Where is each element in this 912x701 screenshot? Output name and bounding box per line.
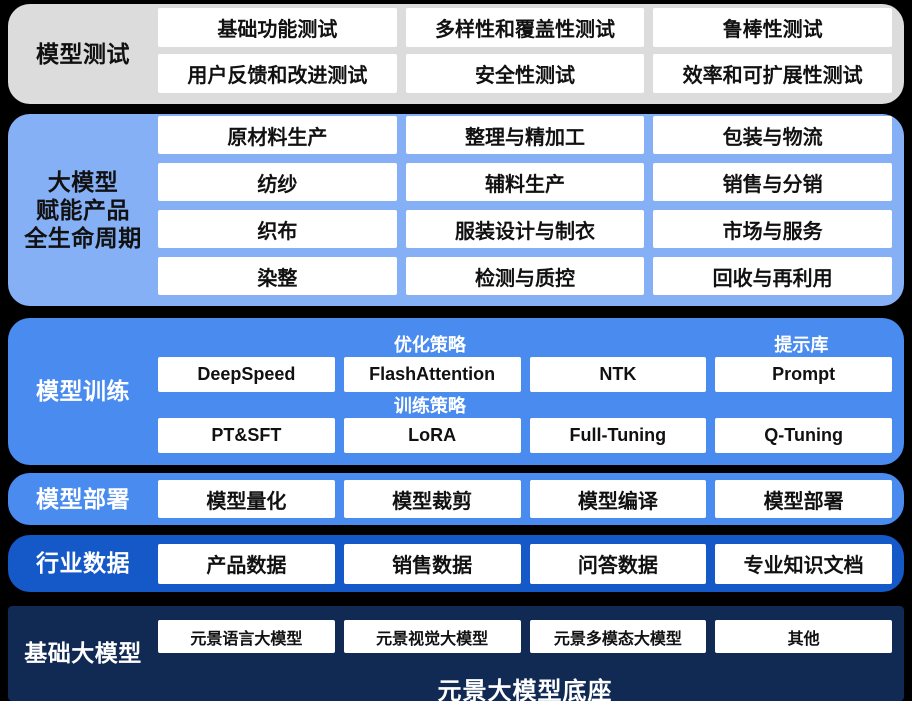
card-row: PT&SFT LoRA Full-Tuning Q-Tuning: [158, 418, 892, 453]
card-row: 模型量化 模型裁剪 模型编译 模型部署: [158, 480, 892, 518]
card-row: 染整 检测与质控 回收与再利用: [158, 257, 892, 295]
group-label-prompt-library: 提示库: [711, 331, 892, 357]
card-item[interactable]: 多样性和覆盖性测试: [406, 8, 645, 47]
card-item[interactable]: 效率和可扩展性测试: [653, 54, 892, 93]
card-item[interactable]: 模型裁剪: [344, 480, 521, 518]
card-item[interactable]: LoRA: [344, 418, 521, 453]
card-item[interactable]: 织布: [158, 210, 397, 248]
card-item[interactable]: NTK: [530, 357, 707, 392]
card-item[interactable]: 服装设计与制衣: [406, 210, 645, 248]
card-item[interactable]: 问答数据: [530, 544, 707, 584]
card-item[interactable]: 回收与再利用: [653, 257, 892, 295]
card-item[interactable]: FlashAttention: [344, 357, 521, 392]
section-model-training: 模型训练 优化策略 提示库 DeepSpeed FlashAttention N…: [8, 318, 904, 465]
card-item[interactable]: 模型部署: [715, 480, 892, 518]
foundation-model-banner: 元景大模型底座: [158, 671, 892, 701]
section-label-product-lifecycle: 大模型 赋能产品 全生命周期: [8, 168, 158, 252]
section-model-testing: 模型测试 基础功能测试 多样性和覆盖性测试 鲁棒性测试 用户反馈和改进测试 安全…: [8, 4, 904, 104]
card-row: 元景语言大模型 元景视觉大模型 元景多模态大模型 其他: [158, 620, 892, 653]
card-item[interactable]: 包装与物流: [653, 116, 892, 154]
card-item[interactable]: 原材料生产: [158, 116, 397, 154]
card-item[interactable]: 销售数据: [344, 544, 521, 584]
section-label-industry-data: 行业数据: [8, 549, 158, 577]
card-item[interactable]: 模型量化: [158, 480, 335, 518]
section-foundation-model: 基础大模型 元景语言大模型 元景视觉大模型 元景多模态大模型 其他 元景大模型底…: [8, 606, 904, 701]
card-item[interactable]: 销售与分销: [653, 163, 892, 201]
card-item[interactable]: 整理与精加工: [406, 116, 645, 154]
card-item[interactable]: 元景语言大模型: [158, 620, 335, 653]
section-body-industry-data: 产品数据 销售数据 问答数据 专业知识文档: [158, 544, 904, 584]
section-industry-data: 行业数据 产品数据 销售数据 问答数据 专业知识文档: [8, 535, 904, 592]
card-item[interactable]: 元景多模态大模型: [530, 620, 707, 653]
card-item[interactable]: 元景视觉大模型: [344, 620, 521, 653]
card-item[interactable]: 基础功能测试: [158, 8, 397, 47]
section-label-model-training: 模型训练: [8, 377, 158, 405]
section-product-lifecycle: 大模型 赋能产品 全生命周期 原材料生产 整理与精加工 包装与物流 纺纱 辅料生…: [8, 114, 904, 306]
section-body-model-training: 优化策略 提示库 DeepSpeed FlashAttention NTK Pr…: [158, 331, 904, 453]
card-item[interactable]: 鲁棒性测试: [653, 8, 892, 47]
section-label-model-testing: 模型测试: [8, 40, 158, 68]
section-label-foundation-model: 基础大模型: [8, 639, 158, 667]
section-model-deployment: 模型部署 模型量化 模型裁剪 模型编译 模型部署: [8, 473, 904, 525]
card-row: 纺纱 辅料生产 销售与分销: [158, 163, 892, 201]
section-body-product-lifecycle: 原材料生产 整理与精加工 包装与物流 纺纱 辅料生产 销售与分销 织布 服装设计…: [158, 116, 904, 304]
section-body-model-testing: 基础功能测试 多样性和覆盖性测试 鲁棒性测试 用户反馈和改进测试 安全性测试 效…: [158, 8, 904, 100]
card-item[interactable]: 用户反馈和改进测试: [158, 54, 397, 93]
card-item[interactable]: 纺纱: [158, 163, 397, 201]
group-header-row: 训练策略: [158, 392, 892, 418]
card-item[interactable]: Prompt: [715, 357, 892, 392]
card-row: 原材料生产 整理与精加工 包装与物流: [158, 116, 892, 154]
section-body-model-deployment: 模型量化 模型裁剪 模型编译 模型部署: [158, 480, 904, 518]
card-item[interactable]: 模型编译: [530, 480, 707, 518]
section-label-model-deployment: 模型部署: [8, 485, 158, 513]
card-row: 产品数据 销售数据 问答数据 专业知识文档: [158, 544, 892, 584]
card-item[interactable]: 辅料生产: [406, 163, 645, 201]
card-item[interactable]: DeepSpeed: [158, 357, 335, 392]
card-row: 织布 服装设计与制衣 市场与服务: [158, 210, 892, 248]
card-item[interactable]: 市场与服务: [653, 210, 892, 248]
group-header-row: 优化策略 提示库: [158, 331, 892, 357]
card-item[interactable]: 检测与质控: [406, 257, 645, 295]
card-item[interactable]: 产品数据: [158, 544, 335, 584]
card-row: 基础功能测试 多样性和覆盖性测试 鲁棒性测试: [158, 8, 892, 47]
card-item[interactable]: 染整: [158, 257, 397, 295]
card-item[interactable]: PT&SFT: [158, 418, 335, 453]
card-row: 用户反馈和改进测试 安全性测试 效率和可扩展性测试: [158, 54, 892, 93]
card-row: DeepSpeed FlashAttention NTK Prompt: [158, 357, 892, 392]
card-item[interactable]: 专业知识文档: [715, 544, 892, 584]
group-label-training-strategy: 训练策略: [158, 392, 702, 418]
card-item[interactable]: 其他: [715, 620, 892, 653]
card-item[interactable]: Full-Tuning: [530, 418, 707, 453]
section-body-foundation-model: 元景语言大模型 元景视觉大模型 元景多模态大模型 其他 元景大模型底座: [158, 606, 904, 701]
architecture-diagram: 模型测试 基础功能测试 多样性和覆盖性测试 鲁棒性测试 用户反馈和改进测试 安全…: [0, 0, 912, 701]
card-item[interactable]: 安全性测试: [406, 54, 645, 93]
card-item[interactable]: Q-Tuning: [715, 418, 892, 453]
group-label-optimization: 优化策略: [158, 331, 702, 357]
